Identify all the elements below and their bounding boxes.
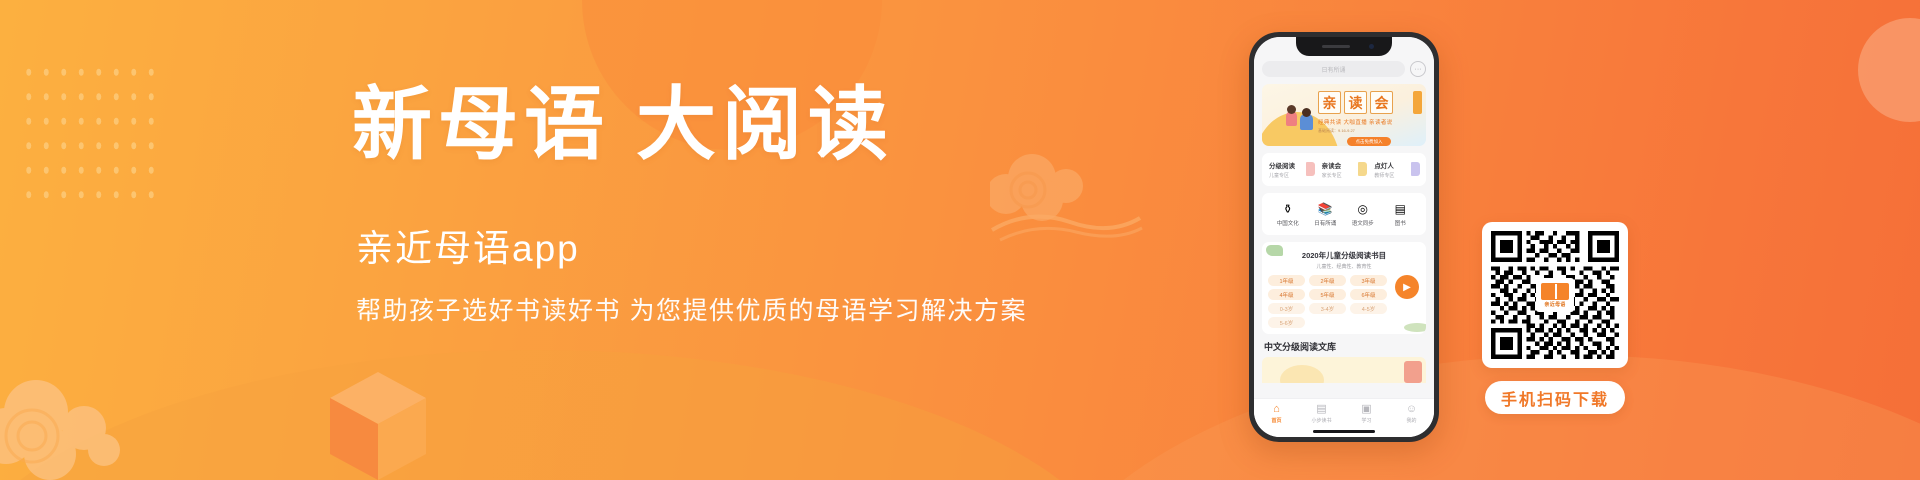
user-icon: ☺ [1389,403,1434,416]
book-icon [1306,162,1315,176]
video-play-icon[interactable]: ▶ [1395,275,1419,299]
search-input[interactable]: 日有所诵 [1262,61,1405,77]
vase-icon: ⚱ [1269,201,1307,216]
app-name: 亲近母语app [356,230,1052,267]
grade-chip[interactable]: 6年级 [1350,289,1387,300]
qr-code[interactable]: 亲近母语 [1482,222,1628,368]
zone-item-graded-reading[interactable]: 分级阅读 儿童专区 [1267,159,1316,180]
leaf-decoration [1266,245,1283,256]
promo-char-1: 亲 [1318,91,1341,114]
auspicious-cloud-icon-left [0,376,168,480]
qr-code-image: 亲近母语 [1491,231,1619,359]
tab-study[interactable]: ▣ 学习 [1344,403,1389,424]
zone-item-parent[interactable]: 亲读会 家长专区 [1320,159,1369,180]
booklist-subtitle: 儿童性、经典性、教育性 [1268,263,1420,270]
quick-icon-chinese-culture[interactable]: ⚱ 中国文化 [1269,201,1307,227]
download-button[interactable]: 手机扫码下载 [1485,381,1625,414]
quick-icon-books[interactable]: ▤ 图书 [1382,201,1420,227]
age-chip[interactable]: 4-5岁 [1350,303,1387,314]
promo-char-3: 会 [1370,91,1393,114]
phone-screen: 日有所诵 ··· 亲 读 会 经典共读 大咖直播 亲读者说 [1254,37,1434,437]
wave-decoration-right [1020,355,1920,480]
age-chip[interactable]: 3-4岁 [1309,303,1346,314]
tab-home[interactable]: ⌂ 首页 [1254,403,1299,424]
book-icon: ▤ [1382,201,1420,216]
promo-date: 基础阅读：9.16-9.27 [1318,128,1420,134]
promo-banner: 新母语 大阅读 亲近母语app 帮助孩子选好书读好书 为您提供优质的母语学习解决… [0,0,1920,480]
promo-card[interactable]: 亲 读 会 经典共读 大咖直播 亲读者说 基础阅读：9.16-9.27 点击免费… [1262,84,1426,146]
study-icon: ▣ [1344,403,1389,416]
qr-block: 亲近母语 手机扫码下载 [1482,222,1628,414]
quick-icon-label: 日有所诵 [1307,219,1345,227]
circle-decoration-top-right [1858,18,1920,122]
wave-decoration-left [0,350,1140,480]
quick-icon-label: 图书 [1382,219,1420,227]
phone-notch [1296,37,1392,56]
promo-cta-button[interactable]: 点击免费加入 [1347,137,1391,146]
promo-side-tag [1413,91,1422,114]
library-shelf-card[interactable] [1262,357,1426,383]
age-chip[interactable]: 5-6岁 [1268,317,1305,328]
quick-icon-daily-recite[interactable]: 📚 日有所诵 [1307,201,1345,227]
book-icon [1411,162,1420,176]
book-logo-icon [1541,283,1569,300]
qr-logo: 亲近母语 [1536,278,1574,312]
isometric-cube-decoration [330,372,426,480]
home-icon: ⌂ [1254,403,1299,416]
age-chip[interactable]: 0-3岁 [1268,303,1305,314]
zone-card: 分级阅读 儿童专区 亲读会 家长专区 点灯人 教师专区 [1262,153,1426,186]
sync-icon: ◎ [1344,201,1382,216]
tab-label: 学习 [1344,417,1389,424]
book-icon [1358,162,1367,176]
quick-icon-label: 语文同步 [1344,219,1382,227]
headline-block: 新母语 大阅读 亲近母语app 帮助孩子选好书读好书 为您提供优质的母语学习解决… [352,86,1052,324]
tab-label: 首页 [1254,417,1299,424]
booklist-card: 2020年儿童分级阅读书目 儿童性、经典性、教育性 1年级 2年级 3年级 4年… [1262,242,1426,334]
home-indicator [1313,430,1375,433]
book-stack-icon: 📚 [1307,201,1345,216]
quick-icon-label: 中国文化 [1269,219,1307,227]
qr-logo-label: 亲近母语 [1544,301,1565,308]
grade-chip[interactable]: 5年级 [1309,289,1346,300]
phone-mockup: 日有所诵 ··· 亲 读 会 经典共读 大咖直播 亲读者说 [1249,32,1439,442]
tab-reading[interactable]: ▤ 小步读书 [1299,403,1344,424]
dot-grid-decoration [20,60,160,212]
grade-chip[interactable]: 1年级 [1268,275,1305,286]
reading-icon: ▤ [1299,403,1344,416]
tagline: 帮助孩子选好书读好书 为您提供优质的母语学习解决方案 [356,299,1052,324]
message-icon[interactable]: ··· [1410,61,1426,77]
zone-item-teacher[interactable]: 点灯人 教师专区 [1372,159,1421,180]
tab-profile[interactable]: ☺ 我的 [1389,403,1434,424]
grade-chip[interactable]: 2年级 [1309,275,1346,286]
section-title: 中文分级阅读文库 [1264,340,1426,353]
booklist-title: 2020年儿童分级阅读书目 [1268,250,1420,261]
page-title: 新母语 大阅读 [352,86,1052,166]
grade-chip[interactable]: 3年级 [1350,275,1387,286]
tab-label: 小步读书 [1299,417,1344,424]
promo-subtitle: 经典共读 大咖直播 亲读者说 [1318,118,1420,126]
quick-icons-card: ⚱ 中国文化 📚 日有所诵 ◎ 语文同步 ▤ [1262,193,1426,235]
promo-char-2: 读 [1344,91,1367,114]
quick-icon-sync[interactable]: ◎ 语文同步 [1344,201,1382,227]
tab-label: 我的 [1389,417,1434,424]
grade-chip[interactable]: 4年级 [1268,289,1305,300]
